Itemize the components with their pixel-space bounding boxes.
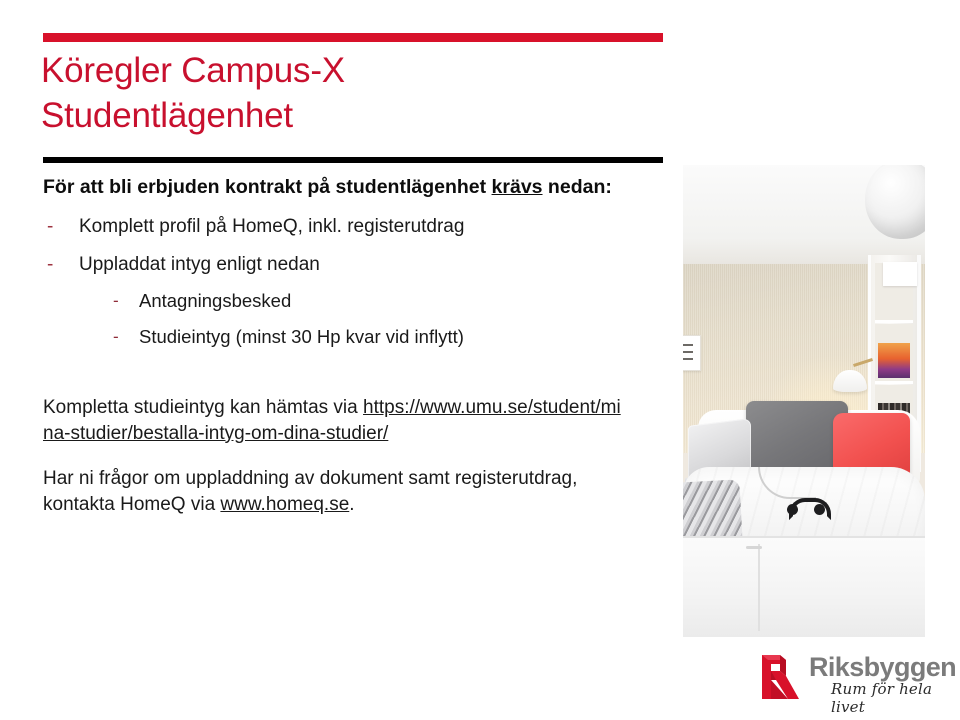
riksbyggen-logo: Riksbyggen Rum för hela livet — [757, 648, 955, 706]
photo-headphones — [789, 498, 823, 514]
title-divider-rule — [43, 157, 663, 163]
sub-list-wrapper: - Antagningsbesked - Studieintyg (minst … — [79, 288, 668, 349]
lead-text-part2: nedan: — [543, 176, 612, 198]
lead-paragraph: För att bli erbjuden kontrakt på student… — [43, 174, 668, 200]
sub-requirements-list: - Antagningsbesked - Studieintyg (minst … — [109, 288, 668, 349]
contact-info-paragraph: Har ni frågor om uppladdning av dokument… — [43, 466, 623, 517]
photo-storage-drawers — [683, 536, 925, 637]
lead-text-part1: För att bli erbjuden kontrakt på student… — [43, 176, 492, 198]
student-apartment-photo — [683, 165, 925, 637]
page-title: Köregler Campus-X Studentlägenhet — [41, 48, 671, 138]
photo-magazines — [878, 343, 910, 378]
requirements-list: - Komplett profil på HomeQ, inkl. regist… — [43, 214, 668, 349]
photo-framed-sign — [683, 335, 701, 371]
bullet-dash-icon: - — [47, 214, 53, 240]
certificate-info-text: Kompletta studieintyg kan hämtas via — [43, 397, 363, 418]
lead-emphasis-kravs: krävs — [492, 176, 543, 198]
sub-bullet-dash-icon: - — [113, 288, 119, 313]
riksbyggen-wordmark: Riksbyggen — [809, 652, 956, 682]
photo-knit-throw — [683, 480, 743, 545]
slide: Köregler Campus-X Studentlägenhet För at… — [0, 0, 960, 720]
photo-shelf-papers — [883, 262, 917, 286]
list-item-label: Uppladdat intyg enligt nedan — [79, 254, 320, 275]
certificate-info-paragraph: Kompletta studieintyg kan hämtas via htt… — [43, 395, 623, 446]
body-content: För att bli erbjuden kontrakt på student… — [43, 174, 668, 537]
sub-list-item: - Studieintyg (minst 30 Hp kvar vid infl… — [109, 324, 668, 349]
sub-bullet-dash-icon: - — [113, 324, 119, 349]
list-item-label: Komplett profil på HomeQ, inkl. register… — [79, 216, 464, 237]
riksbyggen-tagline: Rum för hela livet — [831, 680, 955, 716]
sub-list-item-label: Studieintyg (minst 30 Hp kvar vid inflyt… — [139, 326, 464, 347]
list-item: - Komplett profil på HomeQ, inkl. regist… — [43, 214, 668, 240]
bullet-dash-icon: - — [47, 252, 53, 278]
photo-shelf-bay-middle — [875, 324, 913, 383]
top-red-rule — [43, 33, 663, 42]
sub-list-item: - Antagningsbesked — [109, 288, 668, 313]
riksbyggen-mark-icon — [757, 650, 805, 702]
contact-info-period: . — [349, 494, 354, 515]
homeq-website-link[interactable]: www.homeq.se — [220, 494, 349, 515]
sub-list-item-label: Antagningsbesked — [139, 290, 291, 311]
list-item: - Uppladdat intyg enligt nedan - Antagni… — [43, 252, 668, 349]
